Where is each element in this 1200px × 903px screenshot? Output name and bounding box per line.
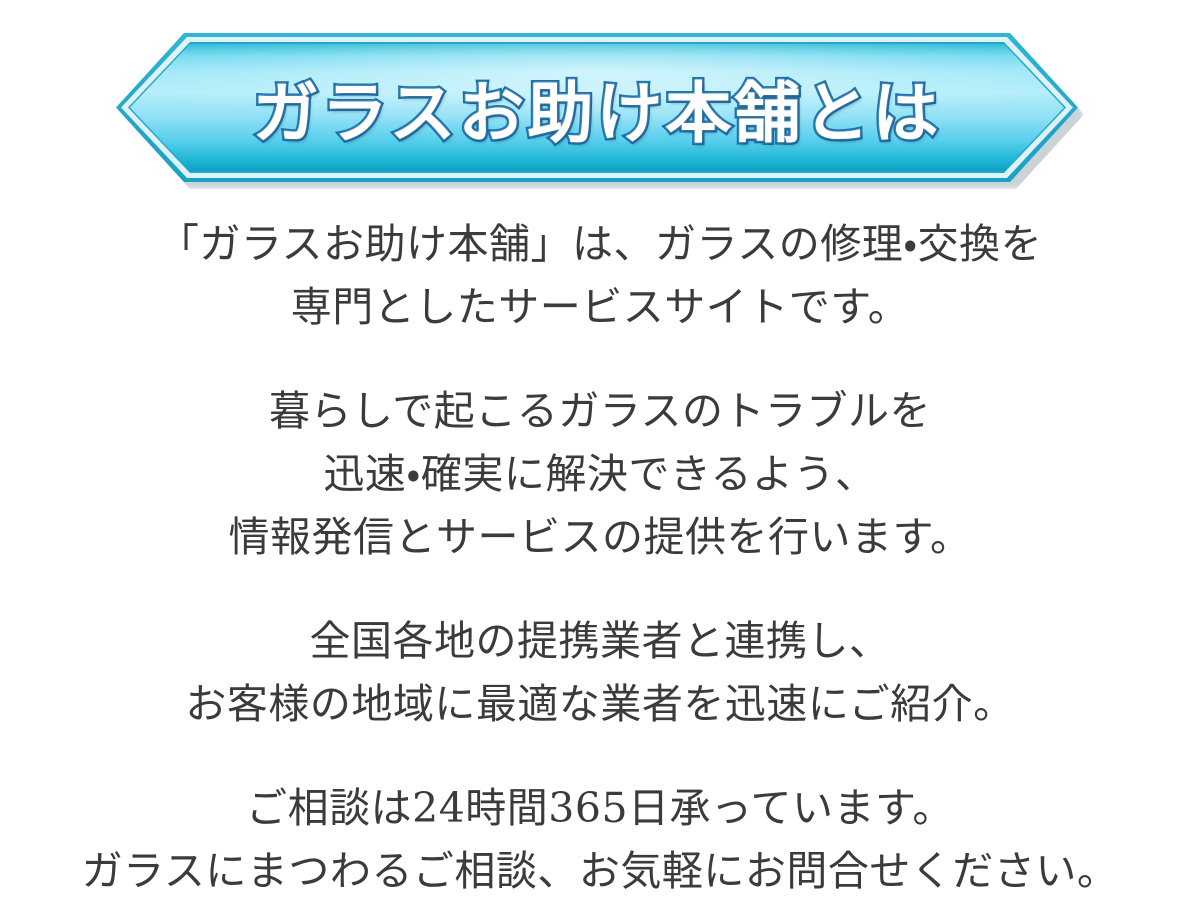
page-title: ガラスお助け本舗とは bbox=[116, 33, 1078, 182]
paragraph-mission: 暮らしで起こるガラスのトラブルを 迅速・確実に解決できるよう、 情報発信とサービ… bbox=[0, 380, 1200, 569]
paragraph-contact: ご相談は24時間365日承っています。 ガラスにまつわるご相談、お気軽にお問合せ… bbox=[0, 777, 1200, 903]
paragraph-line: ガラスにまつわるご相談、お気軽にお問合せください。 bbox=[0, 840, 1200, 903]
paragraph-line: ご相談は24時間365日承っています。 bbox=[0, 777, 1200, 840]
section-heading-banner: ガラスお助け本舗とは bbox=[116, 33, 1084, 193]
paragraph-line: 「ガラスお助け本舗」は、ガラスの修理・交換を bbox=[0, 213, 1200, 276]
paragraph-line: 全国各地の提携業者と連携し、 bbox=[0, 610, 1200, 673]
paragraph-line: 専門としたサービスサイトです。 bbox=[0, 276, 1200, 339]
paragraph-intro: 「ガラスお助け本舗」は、ガラスの修理・交換を 専門としたサービスサイトです。 bbox=[0, 213, 1200, 339]
paragraph-line: 暮らしで起こるガラスのトラブルを bbox=[0, 380, 1200, 443]
page-root: ガラスお助け本舗とは 「ガラスお助け本舗」は、ガラスの修理・交換を 専門としたサ… bbox=[0, 0, 1200, 864]
paragraph-line: 情報発信とサービスの提供を行います。 bbox=[0, 506, 1200, 569]
body-copy: 「ガラスお助け本舗」は、ガラスの修理・交換を 専門としたサービスサイトです。 暮… bbox=[0, 213, 1200, 903]
paragraph-network: 全国各地の提携業者と連携し、 お客様の地域に最適な業者を迅速にご紹介。 bbox=[0, 610, 1200, 736]
paragraph-line: お客様の地域に最適な業者を迅速にご紹介。 bbox=[0, 673, 1200, 736]
paragraph-line: 迅速・確実に解決できるよう、 bbox=[0, 443, 1200, 506]
